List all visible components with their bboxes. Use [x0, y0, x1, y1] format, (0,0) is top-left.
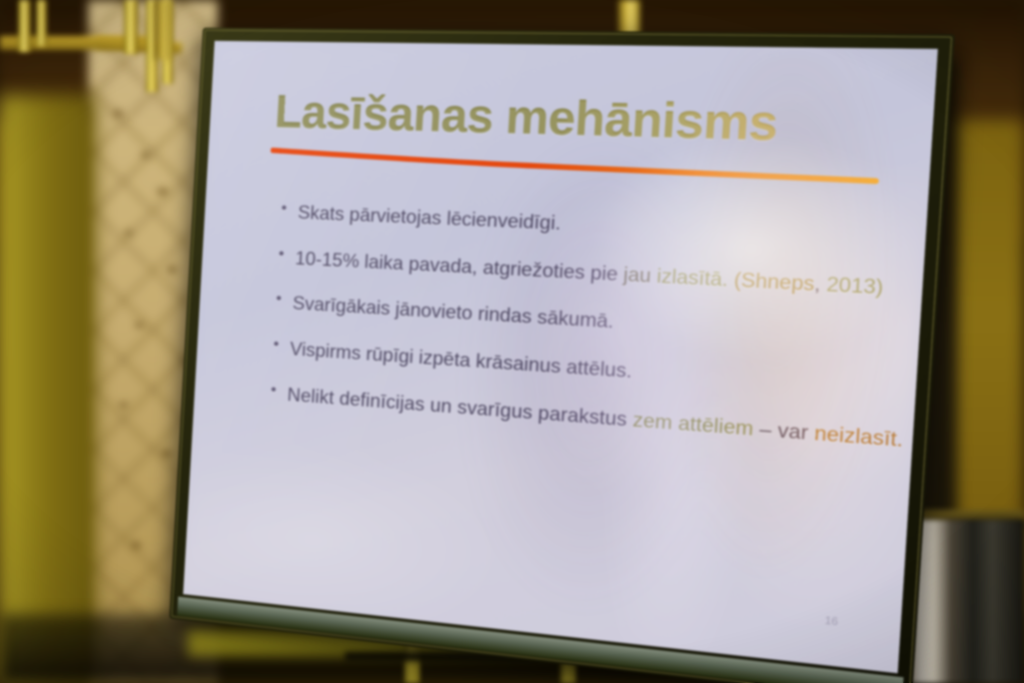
- brass-post-left: [155, 0, 171, 60]
- brass-tube-icon: [124, 0, 138, 54]
- brass-tube-icon: [36, 0, 47, 46]
- title-underline-stroke: [270, 146, 882, 184]
- slide-title: Lasīšanas mehānisms: [274, 88, 886, 151]
- bullet-seg: –: [759, 417, 779, 441]
- display-screen: Lasīšanas mehānisms: [183, 41, 938, 673]
- bullet-item-2: 10-15% laika pavada, atgriežoties pie ja…: [278, 245, 875, 300]
- bullet-list: Skats pārvietojas lēcienveidīgi. 10-15% …: [270, 200, 878, 450]
- bullet-seg: Vispirms rūpīgi izpēta krāsainus attēlus…: [289, 338, 632, 382]
- wall-column-left: [0, 95, 96, 683]
- bullet-seg: Svarīgākais jānovieto rindas sākumā.: [292, 292, 614, 332]
- bullet-seg: 2013): [826, 272, 884, 298]
- bullet-seg: izlasītā.: [656, 264, 735, 291]
- bullet-seg: zem attēliem: [632, 408, 760, 440]
- bullet-item-1: Skats pārvietojas lēcienveidīgi.: [280, 200, 878, 250]
- flat-panel-display: Lasīšanas mehānisms: [169, 28, 955, 683]
- title-underline: [270, 146, 882, 189]
- bullet-seg: jau: [623, 262, 658, 286]
- photo-scene: Lasīšanas mehānisms: [0, 0, 1024, 683]
- brass-tube-icon: [18, 0, 31, 52]
- bullet-seg: (Shneps: [733, 267, 815, 294]
- bullet-seg: 10-15% laika pavada, atgriežoties pie: [295, 247, 625, 285]
- presentation-slide: Lasīšanas mehānisms: [183, 41, 938, 673]
- bullet-seg: Skats pārvietojas lēcienveidīgi.: [297, 201, 561, 234]
- bullet-seg: neizlasīt.: [814, 421, 904, 451]
- bullet-seg: Nelikt definīcijas un svarīgus parakstus: [287, 383, 634, 430]
- bullet-seg: var: [777, 418, 815, 444]
- slide-number: 16: [824, 615, 838, 629]
